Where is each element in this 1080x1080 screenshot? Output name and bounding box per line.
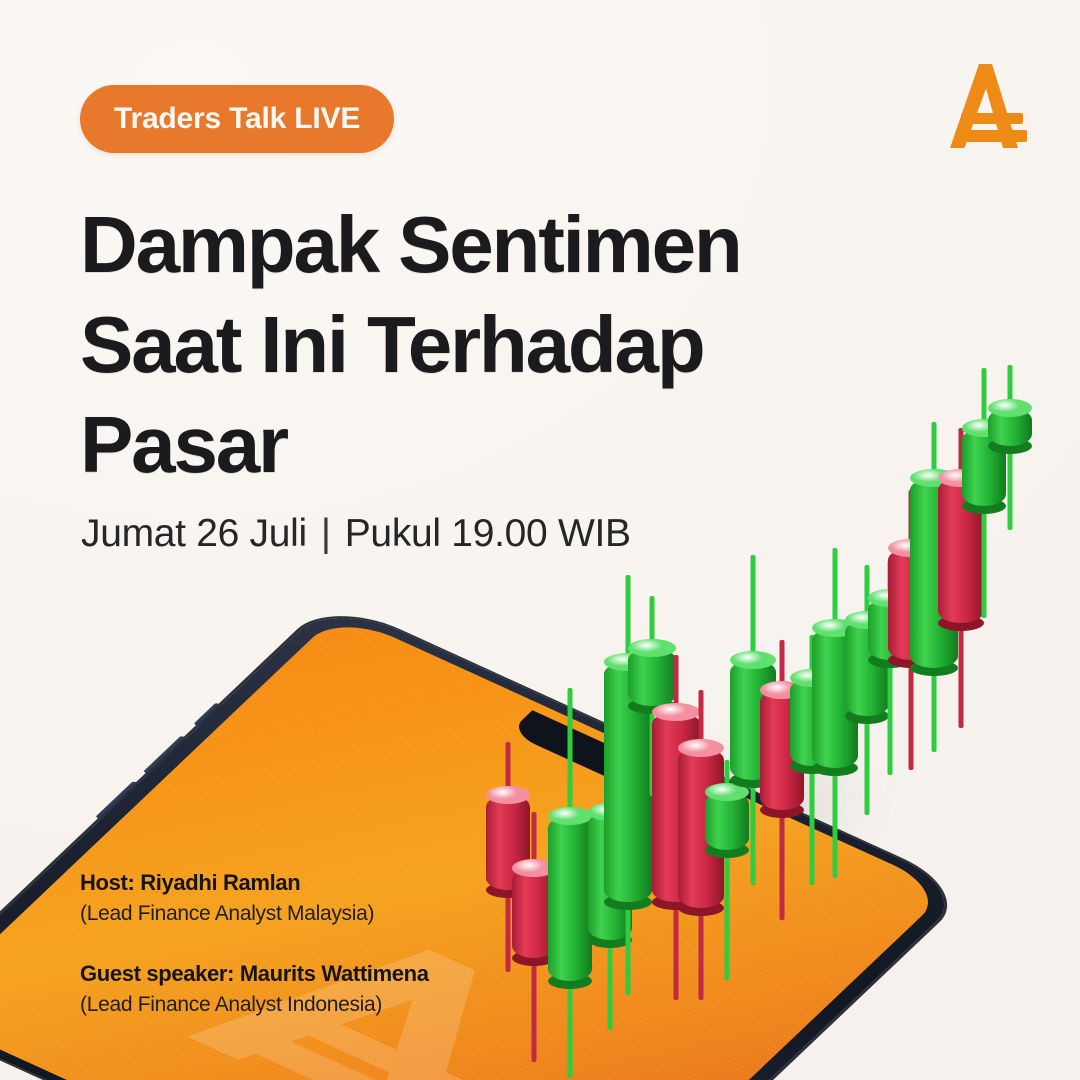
candle-body-side: [548, 816, 592, 981]
candle-body: [548, 816, 592, 981]
candle-body-cap: [678, 739, 724, 757]
host-name: Host: Riyadhi Ramlan: [80, 868, 550, 898]
host-credit: Host: Riyadhi Ramlan (Lead Finance Analy…: [80, 868, 550, 929]
credits-block: Host: Riyadhi Ramlan (Lead Finance Analy…: [80, 868, 550, 1020]
candle-body: [628, 648, 676, 706]
candle-body-cap: [652, 703, 700, 721]
host-role: (Lead Finance Analyst Malaysia): [80, 898, 550, 929]
candle-body-cap: [730, 651, 776, 669]
guest-name: Guest speaker: Maurits Wattimena: [80, 959, 550, 989]
candle-body-cap: [548, 807, 592, 825]
candle-body-cap: [988, 399, 1032, 417]
candle-body-cap: [628, 639, 676, 657]
candle-body: [705, 792, 749, 850]
poster-canvas: Traders Talk LIVE Dampak Sentimen Saat I…: [0, 0, 1080, 1080]
candle-body-cap: [486, 786, 530, 804]
guest-credit: Guest speaker: Maurits Wattimena (Lead F…: [80, 959, 550, 1020]
candle-body: [988, 408, 1032, 446]
guest-role: (Lead Finance Analyst Indonesia): [80, 989, 550, 1020]
